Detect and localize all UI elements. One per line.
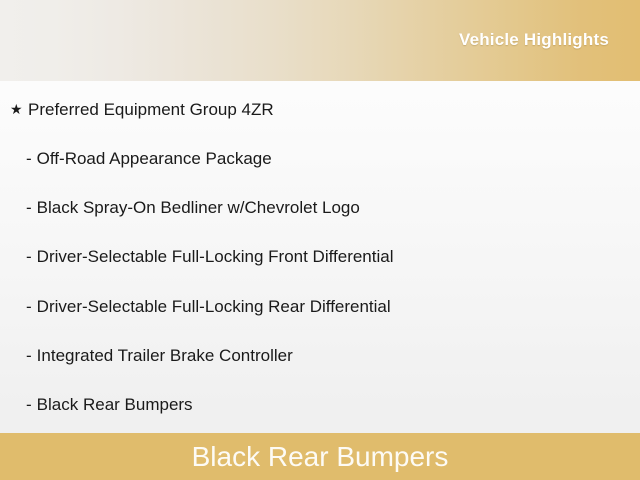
- highlights-list: ★Preferred Equipment Group 4ZR-Off-Road …: [0, 81, 640, 433]
- slide-header: Vehicle Highlights: [0, 0, 640, 81]
- highlight-item-label: Black Rear Bumpers: [37, 396, 193, 413]
- vehicle-highlights-slide: Vehicle Highlights ★Preferred Equipment …: [0, 0, 640, 480]
- highlight-item: -Black Rear Bumpers: [0, 393, 640, 417]
- highlight-item-label: Driver-Selectable Full-Locking Front Dif…: [37, 248, 394, 265]
- highlight-item-label: Integrated Trailer Brake Controller: [37, 347, 293, 364]
- highlight-item-label: Driver-Selectable Full-Locking Rear Diff…: [37, 298, 391, 315]
- caption-text: Black Rear Bumpers: [192, 443, 449, 471]
- dash-bullet-icon: -: [26, 150, 32, 167]
- dash-bullet-icon: -: [26, 298, 32, 315]
- dash-bullet-icon: -: [26, 396, 32, 413]
- highlight-item-label: Preferred Equipment Group 4ZR: [28, 101, 274, 118]
- page-title: Vehicle Highlights: [459, 30, 609, 50]
- highlight-item: ★Preferred Equipment Group 4ZR: [0, 97, 640, 121]
- highlight-item: -Driver-Selectable Full-Locking Rear Dif…: [0, 294, 640, 318]
- highlight-item: -Off-Road Appearance Package: [0, 146, 640, 170]
- highlight-item: -Integrated Trailer Brake Controller: [0, 344, 640, 368]
- highlight-item: -Driver-Selectable Full-Locking Front Di…: [0, 245, 640, 269]
- star-bullet-icon: ★: [10, 102, 28, 116]
- caption-bar: Black Rear Bumpers: [0, 433, 640, 480]
- highlight-item-label: Black Spray-On Bedliner w/Chevrolet Logo: [37, 199, 360, 216]
- dash-bullet-icon: -: [26, 199, 32, 216]
- dash-bullet-icon: -: [26, 347, 32, 364]
- dash-bullet-icon: -: [26, 248, 32, 265]
- highlight-item: -Black Spray-On Bedliner w/Chevrolet Log…: [0, 196, 640, 220]
- highlight-item-label: Off-Road Appearance Package: [37, 150, 272, 167]
